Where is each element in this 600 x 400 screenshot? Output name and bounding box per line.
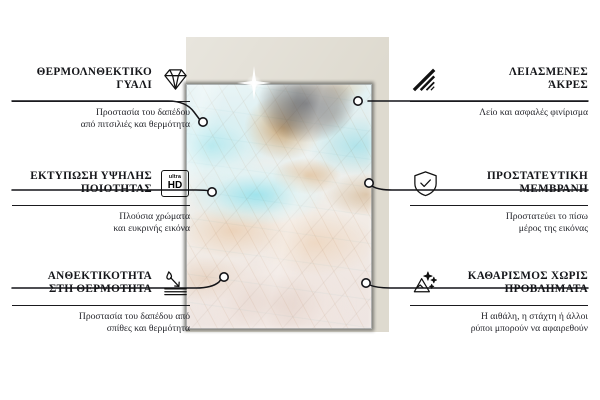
diamond-icon <box>160 64 190 94</box>
feature-divider <box>12 305 190 306</box>
feature-title-line: ΠΟΙΟΤΗΤΑΣ <box>30 183 152 196</box>
feature-title-line: ΆΚΡΕΣ <box>448 79 588 92</box>
feature-title-line: ΛΕΙΑΣΜΕΝΕΣ <box>448 66 588 79</box>
feature-divider <box>12 101 190 102</box>
feature-divider <box>410 205 588 206</box>
feature-desc-line: από πιτσιλιές και θερμότητα <box>12 119 190 131</box>
feature-protective-film[interactable]: ΠΡΟΣΤΑΤΕΥΤΙΚΗ ΜΕΜΒΡΑΝΗ Προστατεύει το πί… <box>410 166 588 236</box>
feature-title-line: ΕΚΤΥΠΩΣΗ ΥΨΗΛΗΣ <box>30 170 152 183</box>
marble-veins <box>186 84 372 329</box>
feature-title-line: ΚΑΘΑΡΙΣΜΟΣ ΧΩΡΙΣ <box>448 270 588 283</box>
feature-desc-line: μέρος της εικόνας <box>410 223 588 235</box>
shield-check-icon <box>410 168 440 198</box>
feature-title-line: ΑΝΘΕΚΤΙΚΟΤΗΤΑ <box>48 270 152 283</box>
feature-desc-line: Προστασία του δαπέδου <box>12 107 190 119</box>
feature-divider <box>410 101 588 102</box>
feature-title-line: ΠΡΟΒΛΗΜΑΤΑ <box>448 283 588 296</box>
feature-heat-durability[interactable]: ΑΝΘΕΚΤΙΚΟΤΗΤΑ ΣΤΗ ΘΕΡΜΟΤΗΤΑ Προσ <box>12 266 190 336</box>
feature-divider <box>12 205 190 206</box>
feature-polished-edges[interactable]: ΛΕΙΑΣΜΕΝΕΣ ΆΚΡΕΣ Λείο και ασφαλές φινίρι… <box>410 62 588 119</box>
feature-title-line: ΜΕΜΒΡΑΝΗ <box>448 183 588 196</box>
easy-clean-sparkle-icon <box>410 268 440 298</box>
glass-panel-artwork <box>186 84 372 329</box>
feature-divider <box>410 305 588 306</box>
ultra-hd-icon: ultra HD <box>160 168 190 198</box>
feature-desc-line: Πλούσια χρώματα <box>12 211 190 223</box>
feature-heat-resistant-glass[interactable]: ΘΕΡΜΟΛΝΘΕΚΤΙΚΟ ΓΥΑΛΙ Προστασία του δαπέδ… <box>12 62 190 132</box>
feature-desc-line: ρύποι μπορούν να αφαιρεθούν <box>410 323 588 335</box>
feature-desc-line: σπίθες και θερμότητα <box>12 323 190 335</box>
feature-desc-line: και ευκρινής εικόνα <box>12 223 190 235</box>
feature-desc-line: Λείο και ασφαλές φινίρισμα <box>410 107 588 119</box>
polished-edges-icon <box>410 64 440 94</box>
feature-desc-line: Προστατεύει το πίσω <box>410 211 588 223</box>
feature-title-line: ΠΡΟΣΤΑΤΕΥΤΙΚΗ <box>448 170 588 183</box>
feature-desc-line: Η αιθάλη, η στάχτη ή άλλοι <box>410 311 588 323</box>
feature-high-quality-print[interactable]: ΕΚΤΥΠΩΣΗ ΥΨΗΛΗΣ ΠΟΙΟΤΗΤΑΣ ultra HD Πλούσ… <box>12 166 190 236</box>
feature-title-line: ΓΥΑΛΙ <box>37 79 152 92</box>
feature-title-line: ΣΤΗ ΘΕΡΜΟΤΗΤΑ <box>48 283 152 296</box>
feature-easy-cleaning[interactable]: ΚΑΘΑΡΙΣΜΟΣ ΧΩΡΙΣ ΠΡΟΒΛΗΜΑΤΑ Η αιθάλη, η … <box>410 266 588 336</box>
infographic-canvas: ΘΕΡΜΟΛΝΘΕΚΤΙΚΟ ΓΥΑΛΙ Προστασία του δαπέδ… <box>0 0 600 400</box>
feature-desc-line: Προστασία του δαπέδου από <box>12 311 190 323</box>
feature-title-line: ΘΕΡΜΟΛΝΘΕΚΤΙΚΟ <box>37 66 152 79</box>
heat-resistance-icon <box>160 268 190 298</box>
ultra-hd-large-label: HD <box>168 181 182 191</box>
